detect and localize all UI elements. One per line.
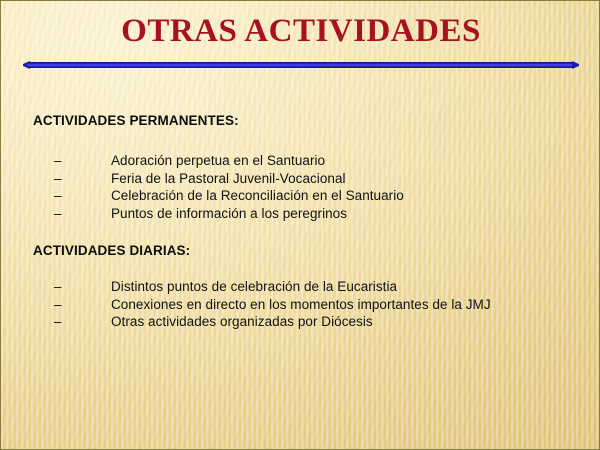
list-item: – Adoración perpetua en el Santuario (1, 152, 600, 170)
dash-bullet-icon: – (54, 152, 66, 170)
list-item-label: Conexiones en directo en los momentos im… (111, 296, 491, 314)
list-item: – Conexiones en directo en los momentos … (1, 296, 600, 314)
list-item: – Feria de la Pastoral Juvenil-Vocaciona… (1, 170, 600, 188)
list-item-label: Celebración de la Reconciliación en el S… (111, 187, 404, 205)
bullet-list-permanentes: – Adoración perpetua en el Santuario – F… (1, 152, 600, 222)
list-item-label: Distintos puntos de celebración de la Eu… (111, 278, 397, 296)
list-item: – Puntos de información a los peregrinos (1, 205, 600, 223)
section-heading-diarias: ACTIVIDADES DIARIAS: (33, 243, 190, 258)
section-heading-permanentes: ACTIVIDADES PERMANENTES: (33, 113, 239, 128)
list-item-label: Puntos de información a los peregrinos (111, 205, 347, 223)
bullet-list-diarias: – Distintos puntos de celebración de la … (1, 278, 600, 331)
page-title: OTRAS ACTIVIDADES (1, 12, 600, 50)
dash-bullet-icon: – (54, 170, 66, 188)
list-item: – Distintos puntos de celebración de la … (1, 278, 600, 296)
list-item-label: Feria de la Pastoral Juvenil-Vocacional (111, 170, 346, 188)
list-item-label: Otras actividades organizadas por Dióces… (111, 313, 373, 331)
dash-bullet-icon: – (54, 205, 66, 223)
presentation-slide: OTRAS ACTIVIDADES ACTIVIDADES PERMANENTE… (0, 0, 600, 450)
list-item: – Otras actividades organizadas por Dióc… (1, 313, 600, 331)
title-divider-rule (23, 61, 579, 70)
dash-bullet-icon: – (54, 187, 66, 205)
divider-right-cap-icon (572, 61, 579, 69)
dash-bullet-icon: – (54, 296, 66, 314)
list-item: – Celebración de la Reconciliación en el… (1, 187, 600, 205)
dash-bullet-icon: – (54, 313, 66, 331)
list-item-label: Adoración perpetua en el Santuario (111, 152, 325, 170)
divider-bar (27, 62, 575, 68)
dash-bullet-icon: – (54, 278, 66, 296)
